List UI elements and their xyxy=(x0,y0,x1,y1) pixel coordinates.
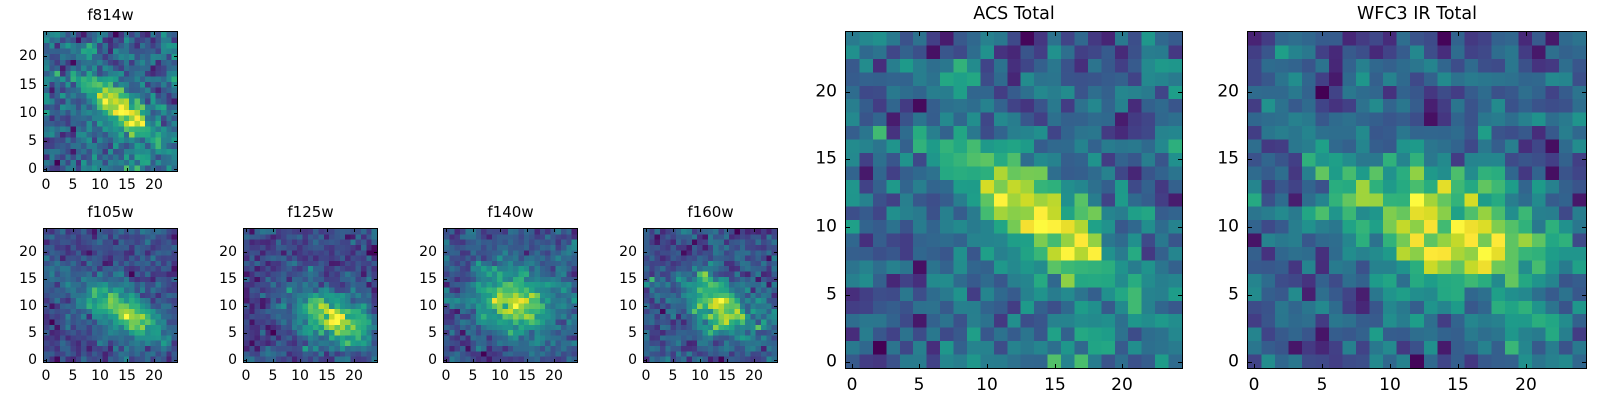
x-tick-mark-top xyxy=(46,228,47,232)
y-tick-mark xyxy=(243,252,247,253)
y-tick-mark-right xyxy=(1582,295,1587,296)
y-tick-mark xyxy=(643,252,647,253)
x-tick-mark-top xyxy=(987,31,988,36)
y-tick-label: 15 xyxy=(1201,151,1239,168)
x-tick-mark xyxy=(1526,364,1527,369)
x-tick-mark-top xyxy=(46,31,47,35)
axes-box xyxy=(43,228,178,363)
x-tick-label: 15 xyxy=(1044,377,1066,394)
y-tick-label: 15 xyxy=(605,272,637,286)
y-tick-mark-right xyxy=(174,113,178,114)
panel-title: f125w xyxy=(243,205,378,220)
x-tick-mark xyxy=(500,359,501,363)
x-tick-label: 5 xyxy=(269,369,278,383)
x-tick-label: 5 xyxy=(669,369,678,383)
x-tick-mark-top xyxy=(1526,31,1527,36)
y-tick-label: 20 xyxy=(205,245,237,259)
x-tick-mark-top xyxy=(1458,31,1459,36)
x-tick-mark xyxy=(100,168,101,172)
y-tick-label: 10 xyxy=(1201,219,1239,236)
y-tick-label: 20 xyxy=(1201,84,1239,101)
y-tick-label: 20 xyxy=(605,245,637,259)
axes-box xyxy=(643,228,778,363)
x-tick-mark-top xyxy=(1055,31,1056,36)
y-tick-label: 20 xyxy=(405,245,437,259)
panel-title: ACS Total xyxy=(845,6,1183,24)
x-tick-label: 15 xyxy=(518,369,536,383)
y-tick-mark-right xyxy=(774,252,778,253)
axes-box xyxy=(243,228,378,363)
x-tick-mark xyxy=(852,364,853,369)
x-tick-label: 0 xyxy=(1249,377,1260,394)
x-tick-mark-top xyxy=(727,228,728,232)
y-tick-mark xyxy=(243,279,247,280)
y-tick-label: 0 xyxy=(799,354,837,371)
y-tick-mark xyxy=(1247,295,1252,296)
heatmap-image xyxy=(644,229,777,362)
y-tick-mark xyxy=(443,279,447,280)
x-tick-mark-top xyxy=(473,228,474,232)
x-tick-label: 15 xyxy=(1447,377,1469,394)
x-tick-label: 0 xyxy=(42,369,51,383)
y-tick-label: 0 xyxy=(5,162,37,176)
heatmap-panel-f125w: f125w0510152005101520 xyxy=(0,0,1600,400)
x-tick-mark-top xyxy=(527,228,528,232)
x-tick-label: 0 xyxy=(642,369,651,383)
x-tick-mark xyxy=(100,359,101,363)
x-tick-mark-top xyxy=(127,228,128,232)
x-tick-mark-top xyxy=(1254,31,1255,36)
figure-canvas: f814w0510152005101520f105w05101520051015… xyxy=(0,0,1600,400)
y-tick-mark xyxy=(43,306,47,307)
y-tick-label: 5 xyxy=(605,326,637,340)
y-tick-mark xyxy=(43,169,47,170)
y-tick-label: 10 xyxy=(5,106,37,120)
y-tick-label: 20 xyxy=(5,245,37,259)
panel-title: f160w xyxy=(643,205,778,220)
y-tick-mark-right xyxy=(1178,295,1183,296)
axes-box xyxy=(443,228,578,363)
y-tick-label: 10 xyxy=(799,219,837,236)
y-tick-mark-right xyxy=(174,333,178,334)
axes-box xyxy=(1247,31,1587,369)
y-tick-mark xyxy=(43,279,47,280)
x-tick-mark xyxy=(1458,364,1459,369)
x-tick-label: 15 xyxy=(118,178,136,192)
x-tick-mark xyxy=(273,359,274,363)
y-tick-mark-right xyxy=(1582,227,1587,228)
y-tick-mark xyxy=(845,362,850,363)
axes-box xyxy=(845,31,1183,369)
y-tick-mark-right xyxy=(574,252,578,253)
x-tick-label: 5 xyxy=(1317,377,1328,394)
y-tick-mark-right xyxy=(1178,159,1183,160)
x-tick-mark xyxy=(919,364,920,369)
x-tick-mark xyxy=(300,359,301,363)
y-tick-label: 0 xyxy=(205,353,237,367)
y-tick-mark-right xyxy=(174,279,178,280)
x-tick-mark xyxy=(700,359,701,363)
x-tick-mark xyxy=(327,359,328,363)
y-tick-mark xyxy=(43,56,47,57)
y-tick-mark-right xyxy=(1178,362,1183,363)
y-tick-mark xyxy=(1247,92,1252,93)
y-tick-mark-right xyxy=(174,360,178,361)
x-tick-mark-top xyxy=(273,228,274,232)
y-tick-mark xyxy=(643,360,647,361)
x-tick-mark-top xyxy=(646,228,647,232)
y-tick-mark-right xyxy=(574,279,578,280)
y-tick-mark-right xyxy=(574,360,578,361)
x-tick-mark-top xyxy=(852,31,853,36)
x-tick-mark xyxy=(554,359,555,363)
y-tick-label: 5 xyxy=(205,326,237,340)
y-tick-mark-right xyxy=(1582,92,1587,93)
x-tick-mark-top xyxy=(354,228,355,232)
y-tick-label: 5 xyxy=(5,134,37,148)
x-tick-mark-top xyxy=(673,228,674,232)
y-tick-label: 0 xyxy=(405,353,437,367)
x-tick-mark xyxy=(446,359,447,363)
x-tick-label: 10 xyxy=(491,369,509,383)
x-tick-mark xyxy=(127,359,128,363)
x-tick-label: 5 xyxy=(469,369,478,383)
x-tick-mark-top xyxy=(127,31,128,35)
x-tick-mark xyxy=(46,359,47,363)
x-tick-mark xyxy=(673,359,674,363)
x-tick-mark-top xyxy=(919,31,920,36)
y-tick-label: 5 xyxy=(405,326,437,340)
x-tick-mark-top xyxy=(500,228,501,232)
y-tick-mark xyxy=(643,333,647,334)
x-tick-mark xyxy=(127,168,128,172)
y-tick-mark-right xyxy=(1582,362,1587,363)
panel-title: f140w xyxy=(443,205,578,220)
panel-title: WFC3 IR Total xyxy=(1247,6,1587,24)
y-tick-label: 5 xyxy=(5,326,37,340)
y-tick-mark-right xyxy=(174,85,178,86)
y-tick-label: 10 xyxy=(605,299,637,313)
y-tick-label: 10 xyxy=(205,299,237,313)
y-tick-label: 15 xyxy=(799,151,837,168)
y-tick-mark xyxy=(43,333,47,334)
x-tick-mark xyxy=(1055,364,1056,369)
y-tick-mark xyxy=(43,360,47,361)
x-tick-mark xyxy=(73,168,74,172)
x-tick-label: 10 xyxy=(91,178,109,192)
y-tick-mark xyxy=(845,159,850,160)
y-tick-label: 0 xyxy=(5,353,37,367)
y-tick-mark-right xyxy=(374,279,378,280)
y-tick-mark-right xyxy=(1178,227,1183,228)
x-tick-mark-top xyxy=(554,228,555,232)
x-tick-mark xyxy=(1322,364,1323,369)
x-tick-label: 15 xyxy=(718,369,736,383)
x-tick-label: 15 xyxy=(118,369,136,383)
x-tick-label: 0 xyxy=(847,377,858,394)
heatmap-panel-f105w: f105w0510152005101520 xyxy=(0,0,1600,400)
x-tick-mark xyxy=(987,364,988,369)
x-tick-label: 5 xyxy=(69,369,78,383)
heatmap-panel-acs-total: ACS Total0510152005101520 xyxy=(0,0,1600,400)
y-tick-mark xyxy=(845,295,850,296)
x-tick-mark xyxy=(473,359,474,363)
x-tick-mark-top xyxy=(1322,31,1323,36)
x-tick-mark-top xyxy=(754,228,755,232)
y-tick-label: 0 xyxy=(605,353,637,367)
y-tick-mark xyxy=(443,360,447,361)
x-tick-mark-top xyxy=(73,228,74,232)
x-tick-mark-top xyxy=(73,31,74,35)
x-tick-label: 10 xyxy=(291,369,309,383)
x-tick-label: 20 xyxy=(145,178,163,192)
y-tick-mark-right xyxy=(1178,92,1183,93)
y-tick-mark xyxy=(1247,362,1252,363)
y-tick-mark-right xyxy=(774,306,778,307)
x-tick-label: 0 xyxy=(442,369,451,383)
x-tick-mark xyxy=(754,359,755,363)
x-tick-mark xyxy=(154,168,155,172)
x-tick-mark xyxy=(246,359,247,363)
y-tick-mark xyxy=(1247,227,1252,228)
panel-title: f105w xyxy=(43,205,178,220)
y-tick-mark-right xyxy=(374,252,378,253)
x-tick-mark-top xyxy=(246,228,247,232)
heatmap-image xyxy=(846,32,1182,368)
x-tick-mark-top xyxy=(700,228,701,232)
y-tick-mark-right xyxy=(374,333,378,334)
y-tick-mark-right xyxy=(174,141,178,142)
heatmap-panel-f140w: f140w0510152005101520 xyxy=(0,0,1600,400)
x-tick-label: 20 xyxy=(1515,377,1537,394)
x-tick-mark-top xyxy=(446,228,447,232)
x-tick-mark xyxy=(646,359,647,363)
y-tick-label: 15 xyxy=(5,78,37,92)
x-tick-label: 10 xyxy=(1379,377,1401,394)
x-tick-mark-top xyxy=(154,228,155,232)
x-tick-mark xyxy=(1390,364,1391,369)
y-tick-mark xyxy=(243,333,247,334)
x-tick-mark-top xyxy=(327,228,328,232)
y-tick-mark xyxy=(443,306,447,307)
y-tick-mark xyxy=(845,227,850,228)
heatmap-panel-f814w: f814w0510152005101520 xyxy=(0,0,1600,400)
x-tick-mark xyxy=(354,359,355,363)
x-tick-label: 0 xyxy=(242,369,251,383)
heatmap-image xyxy=(44,229,177,362)
y-tick-label: 10 xyxy=(5,299,37,313)
y-tick-mark-right xyxy=(774,360,778,361)
x-tick-label: 5 xyxy=(914,377,925,394)
x-tick-label: 0 xyxy=(42,178,51,192)
x-tick-mark-top xyxy=(100,31,101,35)
panel-title: f814w xyxy=(43,8,178,23)
x-tick-mark-top xyxy=(300,228,301,232)
y-tick-mark xyxy=(43,85,47,86)
y-tick-mark-right xyxy=(174,306,178,307)
x-tick-label: 20 xyxy=(745,369,763,383)
y-tick-label: 20 xyxy=(799,84,837,101)
heatmap-image xyxy=(1248,32,1586,368)
x-tick-mark xyxy=(1122,364,1123,369)
x-tick-mark xyxy=(73,359,74,363)
heatmap-image xyxy=(444,229,577,362)
y-tick-mark xyxy=(43,113,47,114)
y-tick-label: 15 xyxy=(205,272,237,286)
y-tick-mark xyxy=(845,92,850,93)
y-tick-label: 0 xyxy=(1201,354,1239,371)
heatmap-image xyxy=(44,32,177,171)
y-tick-label: 15 xyxy=(5,272,37,286)
x-tick-label: 20 xyxy=(1111,377,1133,394)
y-tick-mark xyxy=(443,252,447,253)
x-tick-mark-top xyxy=(100,228,101,232)
y-tick-mark-right xyxy=(774,333,778,334)
y-tick-mark-right xyxy=(174,56,178,57)
x-tick-mark-top xyxy=(1122,31,1123,36)
x-tick-label: 20 xyxy=(545,369,563,383)
y-tick-mark xyxy=(43,141,47,142)
y-tick-mark-right xyxy=(374,360,378,361)
y-tick-mark-right xyxy=(774,279,778,280)
x-tick-label: 10 xyxy=(691,369,709,383)
x-tick-label: 20 xyxy=(145,369,163,383)
x-tick-mark xyxy=(46,168,47,172)
x-tick-mark xyxy=(154,359,155,363)
x-tick-label: 10 xyxy=(976,377,998,394)
x-tick-label: 5 xyxy=(69,178,78,192)
y-tick-mark-right xyxy=(174,169,178,170)
axes-box xyxy=(43,31,178,172)
x-tick-label: 10 xyxy=(91,369,109,383)
y-tick-label: 5 xyxy=(1201,287,1239,304)
x-tick-label: 15 xyxy=(318,369,336,383)
heatmap-image xyxy=(244,229,377,362)
x-tick-label: 20 xyxy=(345,369,363,383)
y-tick-mark xyxy=(243,360,247,361)
y-tick-mark xyxy=(43,252,47,253)
y-tick-mark-right xyxy=(1582,159,1587,160)
x-tick-mark-top xyxy=(154,31,155,35)
y-tick-label: 10 xyxy=(405,299,437,313)
y-tick-label: 15 xyxy=(405,272,437,286)
heatmap-panel-f160w: f160w0510152005101520 xyxy=(0,0,1600,400)
x-tick-mark xyxy=(727,359,728,363)
x-tick-mark xyxy=(1254,364,1255,369)
y-tick-mark-right xyxy=(574,306,578,307)
y-tick-label: 5 xyxy=(799,287,837,304)
y-tick-mark-right xyxy=(574,333,578,334)
y-tick-mark xyxy=(1247,159,1252,160)
x-tick-mark xyxy=(527,359,528,363)
y-tick-mark xyxy=(243,306,247,307)
y-tick-label: 20 xyxy=(5,49,37,63)
y-tick-mark-right xyxy=(374,306,378,307)
x-tick-mark-top xyxy=(1390,31,1391,36)
heatmap-panel-wfc3-ir-total: WFC3 IR Total0510152005101520 xyxy=(0,0,1600,400)
y-tick-mark-right xyxy=(174,252,178,253)
y-tick-mark xyxy=(443,333,447,334)
y-tick-mark xyxy=(643,306,647,307)
y-tick-mark xyxy=(643,279,647,280)
